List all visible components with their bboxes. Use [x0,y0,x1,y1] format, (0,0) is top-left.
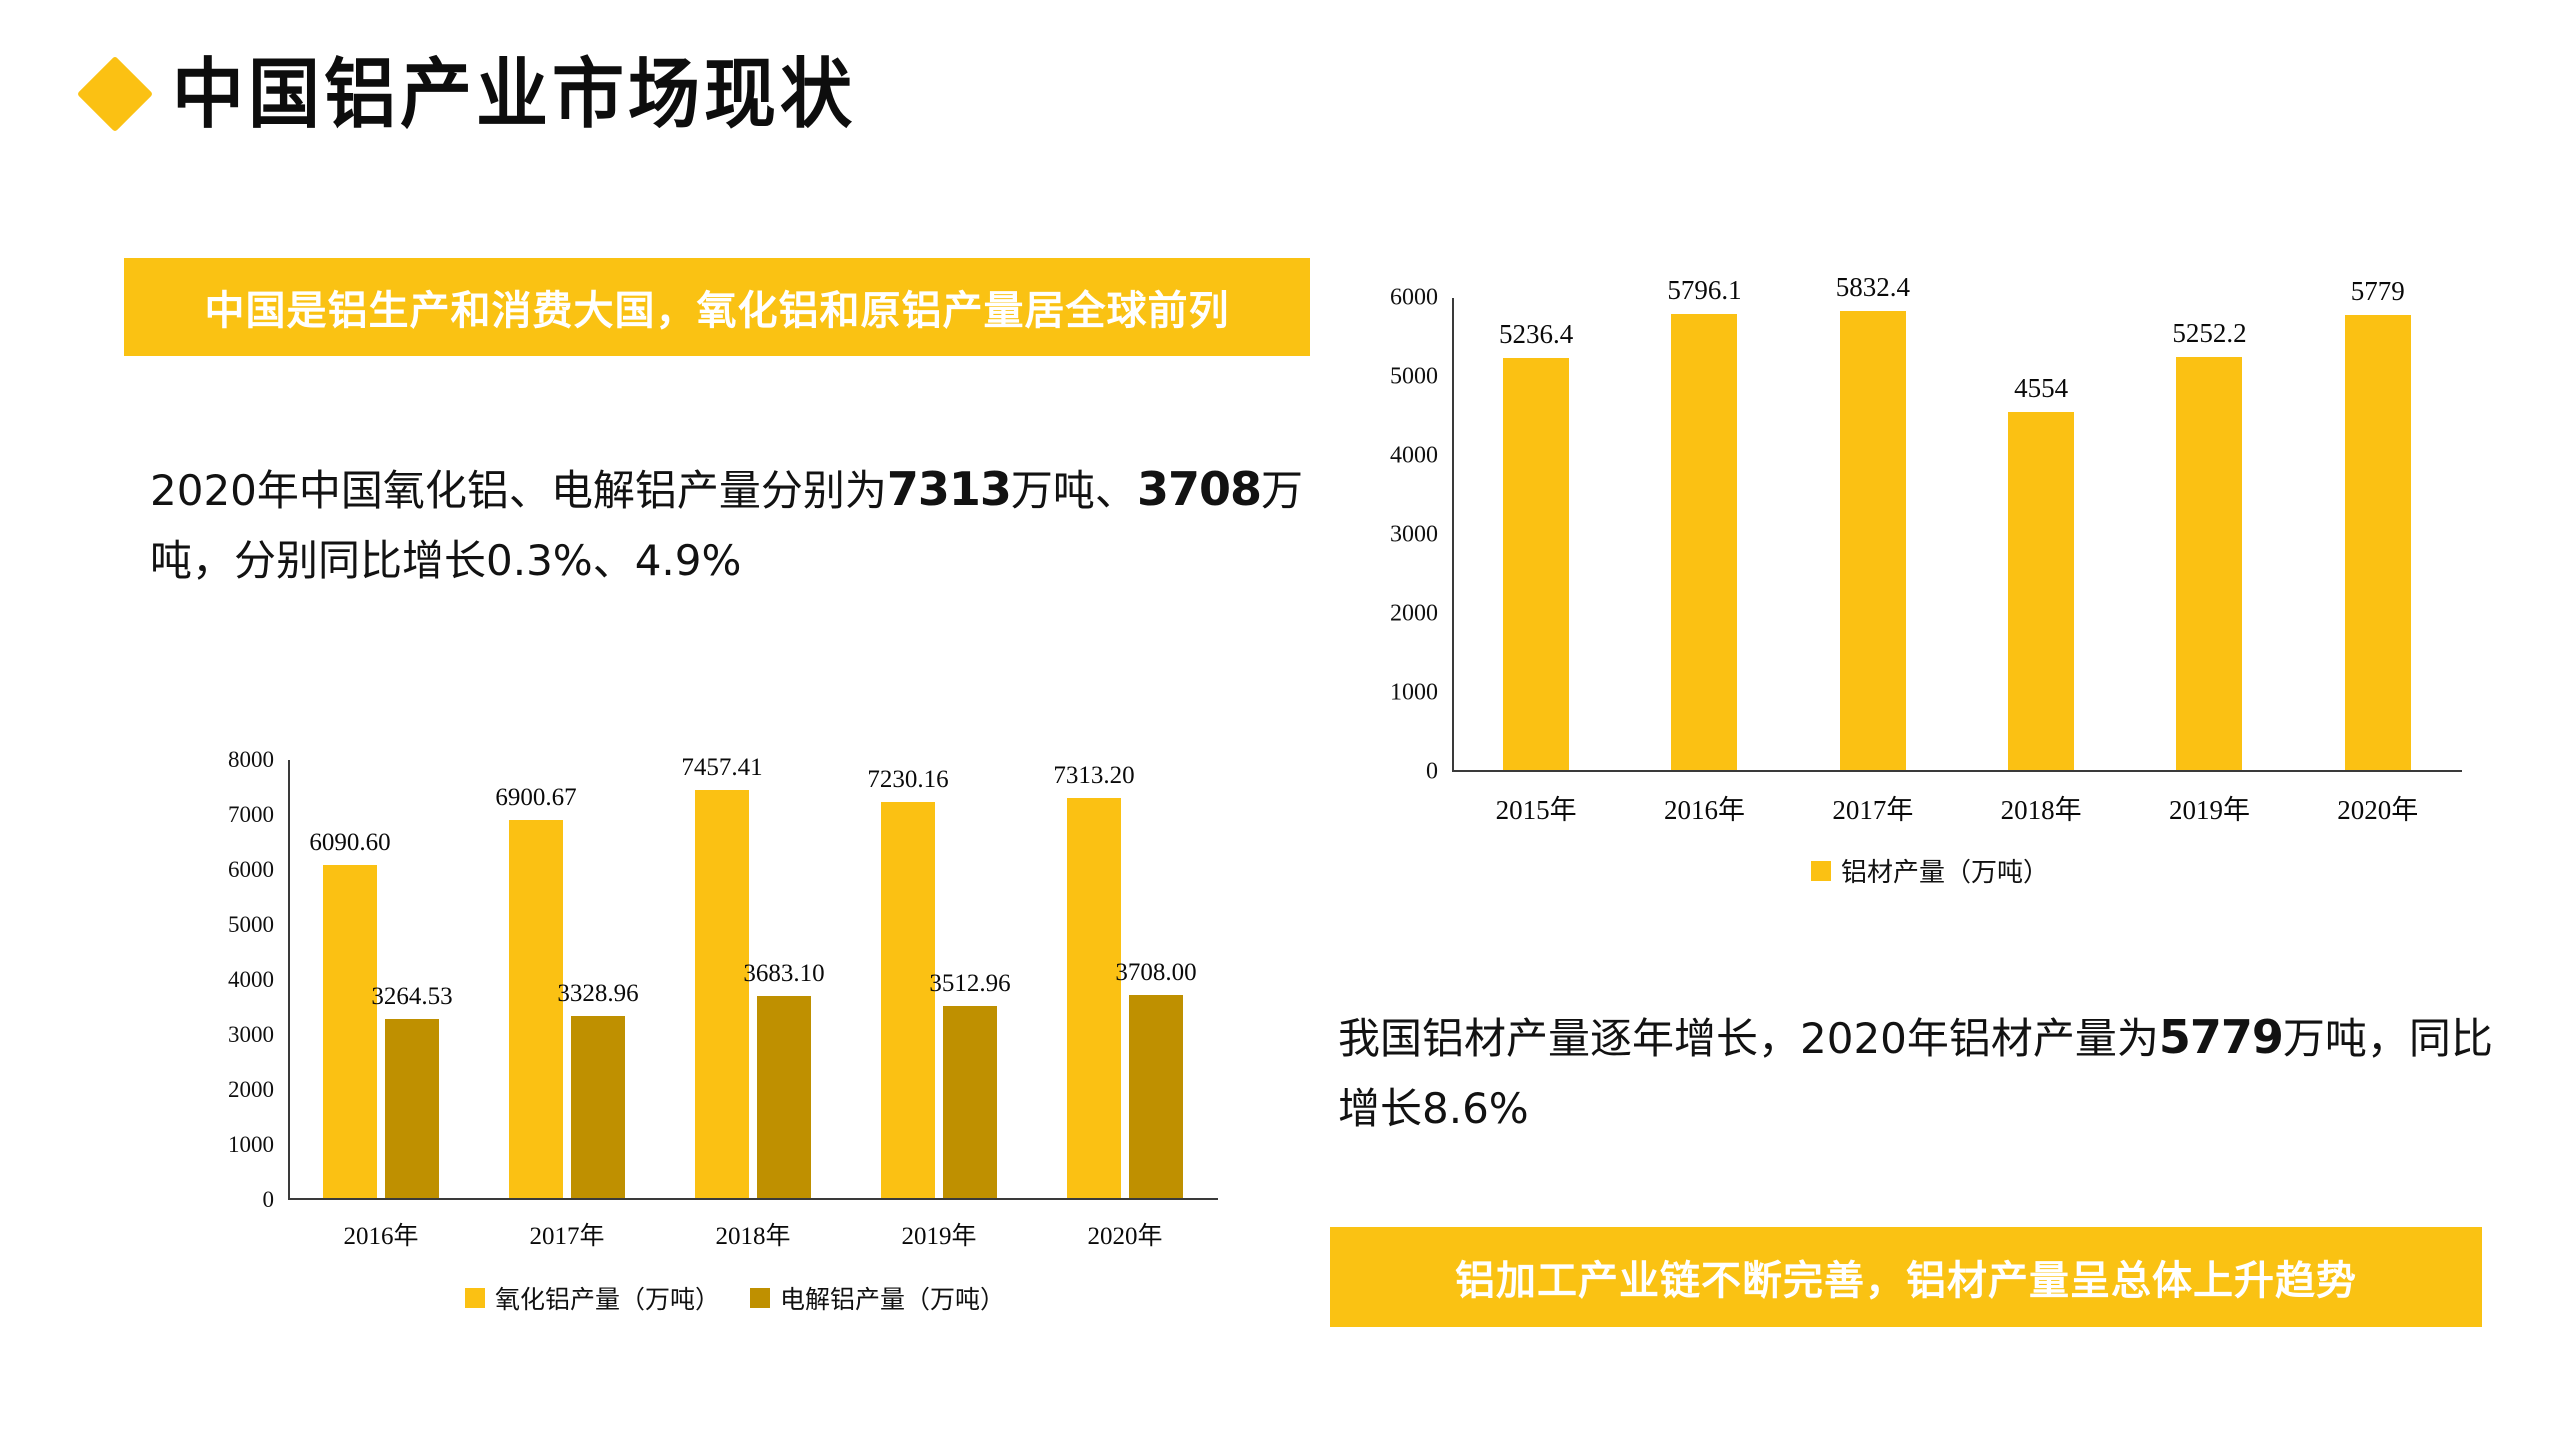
page-title-text: 中国铝产业市场现状 [172,56,856,132]
bar-rect[interactable]: 5796.1 [1671,314,1737,770]
bar-column[interactable]: 3264.53 [385,760,439,1198]
bar-rect[interactable]: 6900.67 [509,820,563,1198]
almat-bars-layer: 5236.45796.15832.445545252.25779 [1452,298,2462,770]
bar-value-label: 5779 [2351,276,2405,307]
almat-x-axis-line [1452,770,2462,772]
bar-value-label: 6090.60 [309,829,390,857]
legend-series-label: 铝材产量（万吨） [1841,852,2049,889]
y-axis-tick-label: 1000 [1390,680,1452,707]
y-axis-tick-label: 6000 [228,857,288,883]
y-axis-tick-label: 3000 [228,1022,288,1048]
bar-category-group: 7230.163512.96 [846,760,1032,1198]
almat-x-axis-labels: 2015年2016年2017年2018年2019年2020年 [1452,788,2462,827]
legend-item[interactable]: 电解铝产量（万吨） [750,1280,1005,1316]
left-body-paragraph: 2020年中国氧化铝、电解铝产量分别为7313万吨、3708万吨，分别同比增长0… [150,452,1310,595]
bar-column[interactable]: 5832.4 [1840,298,1906,770]
y-axis-tick-label: 1000 [228,1132,288,1158]
x-axis-tick-label: 2020年 [1032,1216,1218,1252]
left-para-seg1: 2020年中国氧化铝、电解铝产量分别为 [150,466,887,515]
bar-category-group: 5252.2 [2125,298,2293,770]
x-axis-tick-label: 2019年 [846,1216,1032,1252]
page-title: 中国铝产业市场现状 [88,58,856,130]
bar-rect[interactable]: 4554 [2008,412,2074,770]
bar-category-group: 7313.203708.00 [1032,760,1218,1198]
bar-category-group: 6900.673328.96 [474,760,660,1198]
bar-value-label: 7313.20 [1053,762,1134,790]
bar-rect[interactable]: 5779 [2345,315,2411,770]
bar-rect[interactable]: 5236.4 [1503,358,1569,770]
bar-category-group: 6090.603264.53 [288,760,474,1198]
y-axis-tick-label: 2000 [1390,601,1452,628]
bar-value-label: 3512.96 [929,970,1010,998]
right-highlight-banner: 铝加工产业链不断完善，铝材产量呈总体上升趋势 [1330,1227,2482,1327]
legend-item[interactable]: 氧化铝产量（万吨） [465,1280,720,1316]
bar-rect[interactable]: 6090.60 [323,865,377,1198]
bar-value-label: 3264.53 [371,983,452,1011]
bar-column[interactable]: 6090.60 [323,760,377,1198]
x-axis-tick-label: 2017年 [474,1216,660,1252]
almat-chart-plot-area: 0100020003000400050006000 5236.45796.158… [1452,298,2462,772]
bar-category-group: 5796.1 [1620,298,1788,770]
alumina-electrolytic-bar-chart: 010002000300040005000600070008000 6090.6… [210,742,1260,1342]
almat-chart-legend: 铝材产量（万吨） [1380,852,2480,889]
y-axis-tick-label: 0 [1426,759,1452,786]
alumina-chart-plot-area: 010002000300040005000600070008000 6090.6… [288,760,1218,1200]
right-body-paragraph: 我国铝材产量逐年增长，2020年铝材产量为5779万吨，同比增长8.6% [1338,1000,2508,1143]
y-axis-tick-label: 0 [263,1187,289,1213]
y-axis-tick-label: 4000 [1390,443,1452,470]
left-para-highlight-3708: 3708 [1137,462,1261,516]
bar-rect[interactable]: 3264.53 [385,1019,439,1198]
legend-series-label: 电解铝产量（万吨） [780,1280,1005,1316]
bar-value-label: 3708.00 [1115,959,1196,987]
alumina-bars-layer: 6090.603264.536900.673328.967457.413683.… [288,760,1218,1198]
bar-value-label: 7230.16 [867,766,948,794]
x-axis-tick-label: 2015年 [1452,788,1620,827]
bar-category-group: 4554 [1957,298,2125,770]
bar-value-label: 5832.4 [1836,272,1910,303]
bar-value-label: 6900.67 [495,784,576,812]
bar-value-label: 5796.1 [1667,275,1741,306]
bar-column[interactable]: 7457.41 [695,760,749,1198]
bar-value-label: 7457.41 [681,754,762,782]
diamond-icon [77,56,153,132]
bar-rect[interactable]: 7230.16 [881,802,935,1198]
x-axis-tick-label: 2018年 [1957,788,2125,827]
left-para-seg2: 万吨、 [1011,466,1137,515]
bar-column[interactable]: 3512.96 [943,760,997,1198]
x-axis-tick-label: 2016年 [1620,788,1788,827]
aluminium-material-bar-chart: 0100020003000400050006000 5236.45796.158… [1380,282,2480,902]
bar-rect[interactable]: 5252.2 [2176,357,2242,770]
left-highlight-banner: 中国是铝生产和消费大国，氧化铝和原铝产量居全球前列 [124,258,1310,356]
y-axis-tick-label: 3000 [1390,522,1452,549]
bar-category-group: 5832.4 [1789,298,1957,770]
bar-rect[interactable]: 3512.96 [943,1006,997,1198]
right-para-seg1: 我国铝材产量逐年增长，2020年铝材产量为 [1338,1014,2159,1063]
bar-category-group: 5236.4 [1452,298,1620,770]
bar-rect[interactable]: 5832.4 [1840,311,1906,770]
bar-value-label: 3328.96 [557,980,638,1008]
x-axis-tick-label: 2018年 [660,1216,846,1252]
y-axis-tick-label: 8000 [228,747,288,773]
legend-color-swatch [465,1288,485,1308]
bar-value-label: 3683.10 [743,960,824,988]
y-axis-tick-label: 5000 [228,912,288,938]
bar-column[interactable]: 5779 [2345,298,2411,770]
bar-column[interactable]: 3683.10 [757,760,811,1198]
bar-column[interactable]: 5252.2 [2176,298,2242,770]
alumina-x-axis-line [288,1198,1218,1200]
bar-column[interactable]: 4554 [2008,298,2074,770]
bar-rect[interactable]: 3683.10 [757,996,811,1198]
bar-category-group: 5779 [2294,298,2462,770]
bar-rect[interactable]: 7313.20 [1067,798,1121,1198]
y-axis-tick-label: 2000 [228,1077,288,1103]
right-highlight-banner-text: 铝加工产业链不断完善，铝材产量呈总体上升趋势 [1455,1248,2357,1306]
bar-category-group: 7457.413683.10 [660,760,846,1198]
legend-color-swatch [1811,861,1831,881]
bar-column[interactable]: 7313.20 [1067,760,1121,1198]
legend-item[interactable]: 铝材产量（万吨） [1811,852,2049,889]
x-axis-tick-label: 2016年 [288,1216,474,1252]
bar-value-label: 5252.2 [2172,318,2246,349]
bar-rect[interactable]: 3708.00 [1129,995,1183,1198]
left-para-highlight-7313: 7313 [887,462,1011,516]
legend-color-swatch [750,1288,770,1308]
bar-rect[interactable]: 7457.41 [695,790,749,1198]
x-axis-tick-label: 2019年 [2125,788,2293,827]
left-highlight-banner-text: 中国是铝生产和消费大国，氧化铝和原铝产量居全球前列 [205,278,1230,336]
right-para-highlight-5779: 5779 [2159,1010,2283,1064]
alumina-chart-legend: 氧化铝产量（万吨）电解铝产量（万吨） [210,1280,1260,1316]
bar-column[interactable]: 3708.00 [1129,760,1183,1198]
bar-rect[interactable]: 3328.96 [571,1016,625,1198]
legend-series-label: 氧化铝产量（万吨） [495,1280,720,1316]
bar-column[interactable]: 5796.1 [1671,298,1737,770]
bar-value-label: 5236.4 [1499,319,1573,350]
bar-column[interactable]: 7230.16 [881,760,935,1198]
x-axis-tick-label: 2020年 [2294,788,2462,827]
bar-value-label: 4554 [2014,373,2068,404]
y-axis-tick-label: 7000 [228,802,288,828]
y-axis-tick-label: 5000 [1390,364,1452,391]
bar-column[interactable]: 3328.96 [571,760,625,1198]
alumina-x-axis-labels: 2016年2017年2018年2019年2020年 [288,1216,1218,1252]
x-axis-tick-label: 2017年 [1789,788,1957,827]
y-axis-tick-label: 4000 [228,967,288,993]
bar-column[interactable]: 5236.4 [1503,298,1569,770]
bar-column[interactable]: 6900.67 [509,760,563,1198]
y-axis-tick-label: 6000 [1390,285,1452,312]
